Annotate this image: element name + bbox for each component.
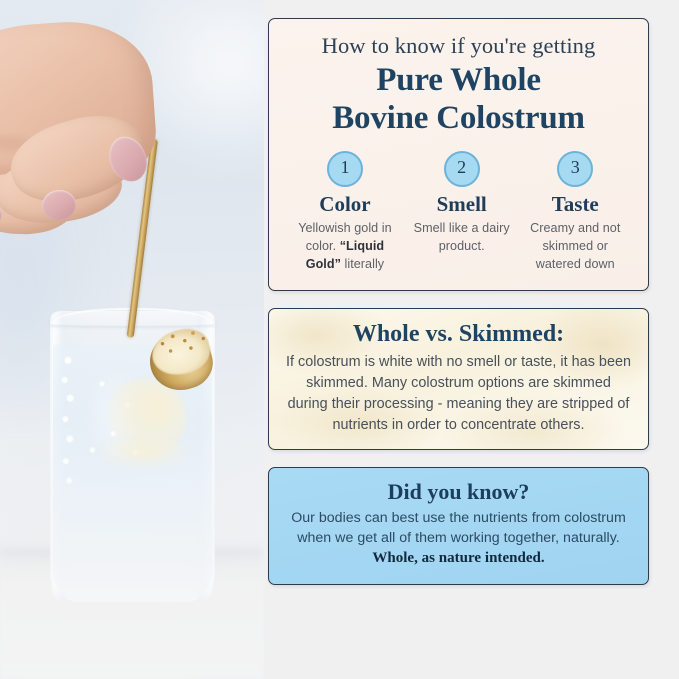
bubbles-left [57, 352, 79, 492]
criteria-title: Smell [409, 194, 515, 215]
criteria-title: Color [289, 194, 401, 215]
did-you-know-body-before: Our bodies can best use the nutrients fr… [291, 510, 626, 546]
hero-headline-line2: Bovine Colostrum [285, 100, 632, 138]
product-photo [0, 0, 264, 679]
did-you-know-body: Our bodies can best use the nutrients fr… [283, 508, 634, 570]
criteria-item-smell: 2 Smell Smell like a dairy product. [405, 151, 519, 274]
how-to-know-card: How to know if you're getting Pure Whole… [268, 18, 649, 291]
hero-headline: Pure Whole Bovine Colostrum [285, 62, 632, 137]
criteria-item-color: 1 Color Yellowish gold in color. “Liquid… [285, 151, 405, 274]
hero-kicker: How to know if you're getting [285, 33, 632, 58]
hand [0, 24, 186, 264]
colostrum-powder-plume-lower [98, 438, 190, 468]
infographic-canvas: How to know if you're getting Pure Whole… [0, 0, 679, 679]
criteria-number-badge: 1 [327, 151, 363, 187]
did-you-know-title: Did you know? [283, 480, 634, 504]
criteria-title: Taste [522, 194, 628, 215]
hero-headline-line1: Pure Whole [285, 62, 632, 100]
did-you-know-card: Did you know? Our bodies can best use th… [268, 467, 649, 585]
criteria-item-taste: 3 Taste Creamy and not skimmed or watere… [518, 151, 632, 274]
whole-vs-skimmed-body: If colostrum is white with no smell or t… [285, 352, 632, 435]
content-column: How to know if you're getting Pure Whole… [268, 18, 649, 585]
whole-vs-skimmed-card: Whole vs. Skimmed: If colostrum is white… [268, 308, 649, 450]
did-you-know-body-bold: Whole, as nature intended. [372, 550, 544, 566]
criteria-description: Creamy and not skimmed or watered down [522, 220, 628, 274]
criteria-number-badge: 3 [557, 151, 593, 187]
criteria-description: Smell like a dairy product. [409, 220, 515, 256]
criteria-number-badge: 2 [444, 151, 480, 187]
whole-vs-skimmed-title: Whole vs. Skimmed: [285, 321, 632, 347]
criteria-text-after: literally [341, 257, 384, 271]
criteria-list: 1 Color Yellowish gold in color. “Liquid… [285, 151, 632, 274]
criteria-description: Yellowish gold in color. “Liquid Gold” l… [289, 220, 401, 274]
